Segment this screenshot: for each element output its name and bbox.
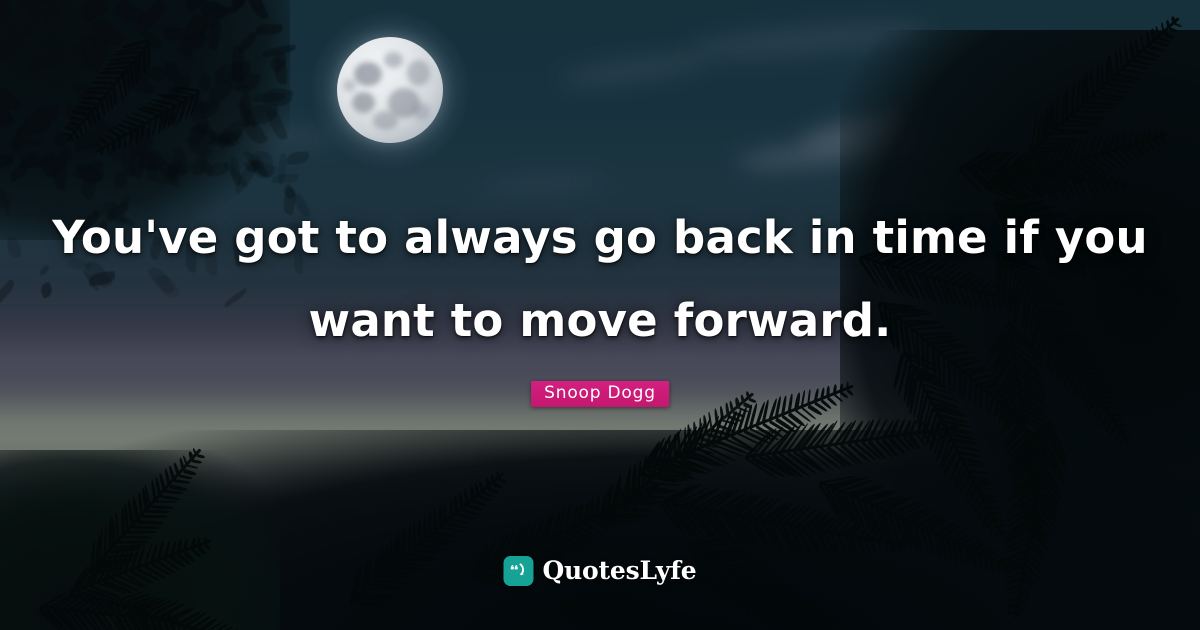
- frond-blade: [811, 626, 814, 630]
- frond-blade: [1096, 65, 1099, 93]
- frond-blade: [668, 437, 671, 465]
- quote-marks-icon: [503, 556, 533, 586]
- author-badge[interactable]: Snoop Dogg: [531, 381, 669, 407]
- frond-blade: [999, 531, 1007, 534]
- frond-blade: [423, 515, 426, 541]
- brand-logo[interactable]: QuotesLyfe: [503, 556, 696, 586]
- frond-blade: [992, 518, 1003, 521]
- frond-blade: [959, 371, 962, 397]
- frond-blade: [673, 434, 676, 461]
- frond-blade: [450, 499, 453, 519]
- frond-blade: [412, 522, 415, 550]
- frond-blade: [986, 506, 1000, 509]
- frond-blade: [418, 519, 421, 546]
- leaf: [272, 173, 298, 182]
- quote-card: You've got to always go back in time if …: [0, 0, 1200, 630]
- frond-blade: [388, 571, 420, 574]
- brand-name: QuotesLyfe: [542, 556, 696, 586]
- quote-text: You've got to always go back in time if …: [0, 196, 1200, 362]
- frond-blade: [98, 71, 123, 74]
- frond-blade: [397, 533, 401, 563]
- frond-blade: [991, 560, 994, 571]
- frond-blade: [983, 499, 999, 502]
- frond-blade: [88, 86, 109, 89]
- frond-blade: [147, 41, 150, 69]
- frond-blade: [383, 575, 416, 579]
- frond-blade: [439, 505, 443, 528]
- frond-blade: [1100, 402, 1117, 405]
